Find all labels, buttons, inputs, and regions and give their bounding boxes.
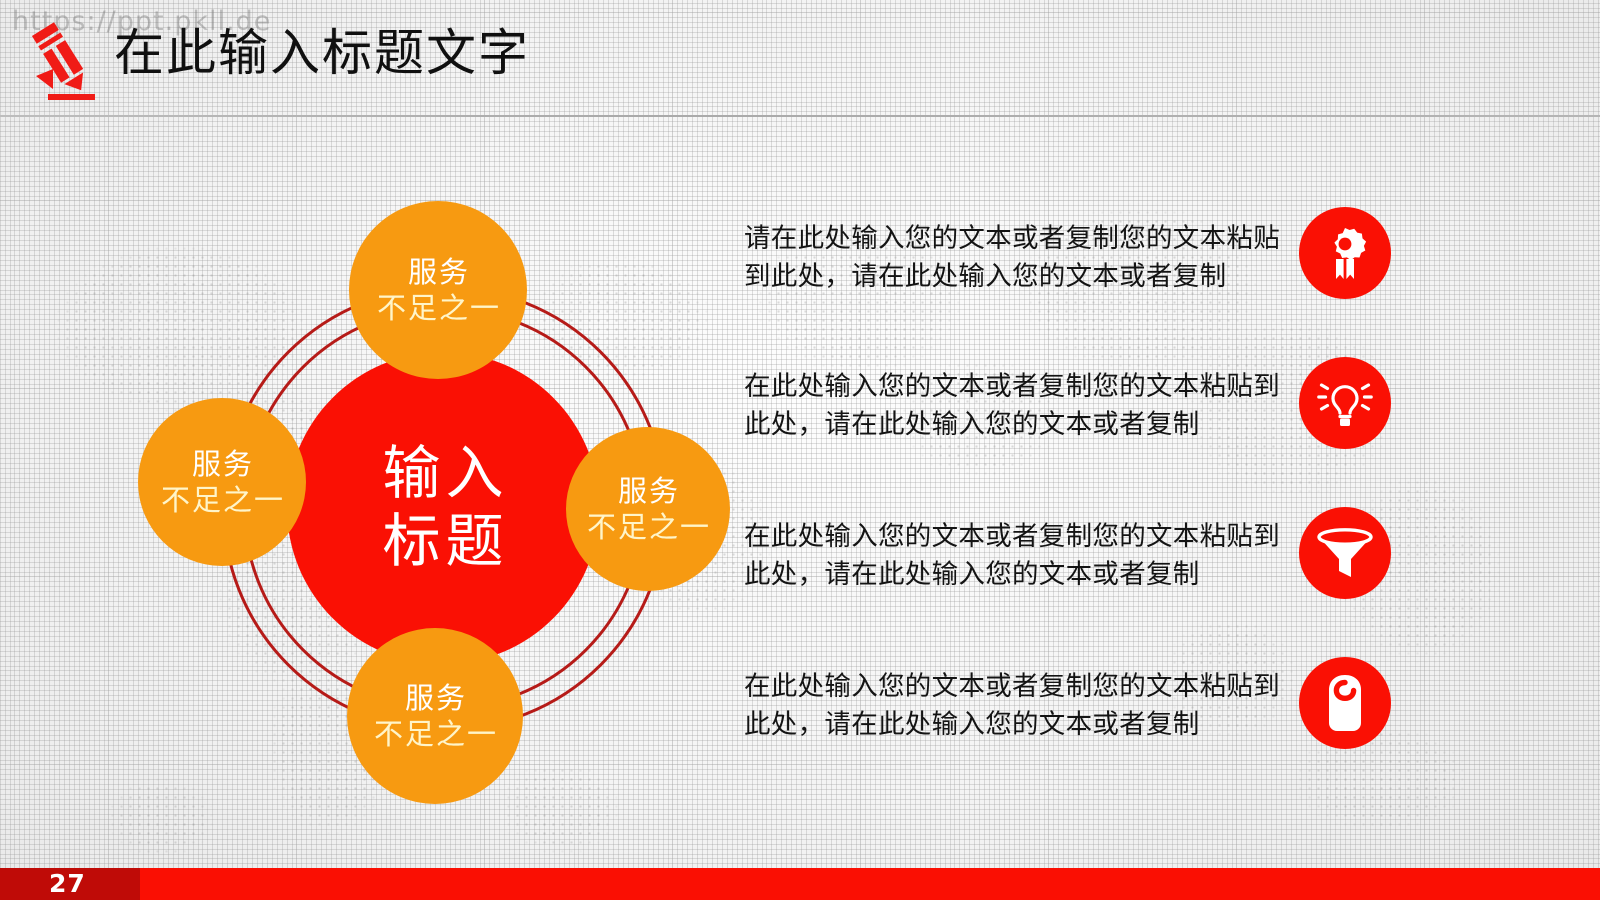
lightbulb-icon bbox=[1317, 375, 1373, 431]
node-right-line2: 不足之一 bbox=[585, 509, 711, 545]
content-row: 请在此处输入您的文本或者复制您的文本粘贴到此处，请在此处输入您的文本或者复制 bbox=[744, 190, 1444, 340]
footer-bar: 27 bbox=[0, 868, 1600, 900]
node-bottom-line2: 不足之一 bbox=[372, 716, 498, 752]
node-circle-right[interactable]: 服务 不足之一 bbox=[566, 427, 730, 591]
node-circle-bottom[interactable]: 服务 不足之一 bbox=[347, 628, 523, 804]
door-hanger-icon bbox=[1323, 674, 1367, 732]
row-2-text: 在此处输入您的文本或者复制您的文本粘贴到此处，请在此处输入您的文本或者复制 bbox=[744, 368, 1282, 445]
funnel-badge[interactable] bbox=[1299, 507, 1391, 599]
row-3-text: 在此处输入您的文本或者复制您的文本粘贴到此处，请在此处输入您的文本或者复制 bbox=[744, 518, 1282, 595]
center-title-line2: 标题 bbox=[377, 508, 508, 576]
node-top-line2: 不足之一 bbox=[375, 290, 501, 326]
node-circle-top[interactable]: 服务 不足之一 bbox=[349, 201, 527, 379]
row-1-text: 请在此处输入您的文本或者复制您的文本粘贴到此处，请在此处输入您的文本或者复制 bbox=[744, 220, 1282, 297]
award-ribbon-badge[interactable] bbox=[1299, 207, 1391, 299]
award-ribbon-icon bbox=[1319, 225, 1371, 281]
center-circle[interactable]: 输入 标题 bbox=[287, 352, 599, 664]
content-rows: 请在此处输入您的文本或者复制您的文本粘贴到此处，请在此处输入您的文本或者复制 在… bbox=[744, 190, 1444, 790]
content-row: 在此处输入您的文本或者复制您的文本粘贴到此处，请在此处输入您的文本或者复制 bbox=[744, 640, 1444, 790]
lightbulb-badge[interactable] bbox=[1299, 357, 1391, 449]
circular-diagram: 输入 标题 服务 不足之一 服务 不足之一 服务 不足之一 服务 不足之一 bbox=[0, 0, 760, 900]
node-right-line1: 服务 bbox=[616, 473, 680, 509]
node-left-line2: 不足之一 bbox=[159, 482, 285, 518]
door-hanger-badge[interactable] bbox=[1299, 657, 1391, 749]
node-top-line1: 服务 bbox=[406, 254, 470, 290]
node-left-line1: 服务 bbox=[190, 446, 254, 482]
row-4-text: 在此处输入您的文本或者复制您的文本粘贴到此处，请在此处输入您的文本或者复制 bbox=[744, 668, 1282, 745]
node-circle-left[interactable]: 服务 不足之一 bbox=[138, 398, 306, 566]
page-number: 27 bbox=[49, 869, 86, 898]
slide: https://ppt.pkll.de 在此输入标题文字 输入 标题 服务 不足… bbox=[0, 0, 1600, 900]
funnel-icon bbox=[1316, 527, 1374, 579]
node-bottom-line1: 服务 bbox=[403, 680, 467, 716]
content-row: 在此处输入您的文本或者复制您的文本粘贴到此处，请在此处输入您的文本或者复制 bbox=[744, 490, 1444, 640]
content-row: 在此处输入您的文本或者复制您的文本粘贴到此处，请在此处输入您的文本或者复制 bbox=[744, 340, 1444, 490]
center-title-line1: 输入 bbox=[377, 440, 508, 508]
